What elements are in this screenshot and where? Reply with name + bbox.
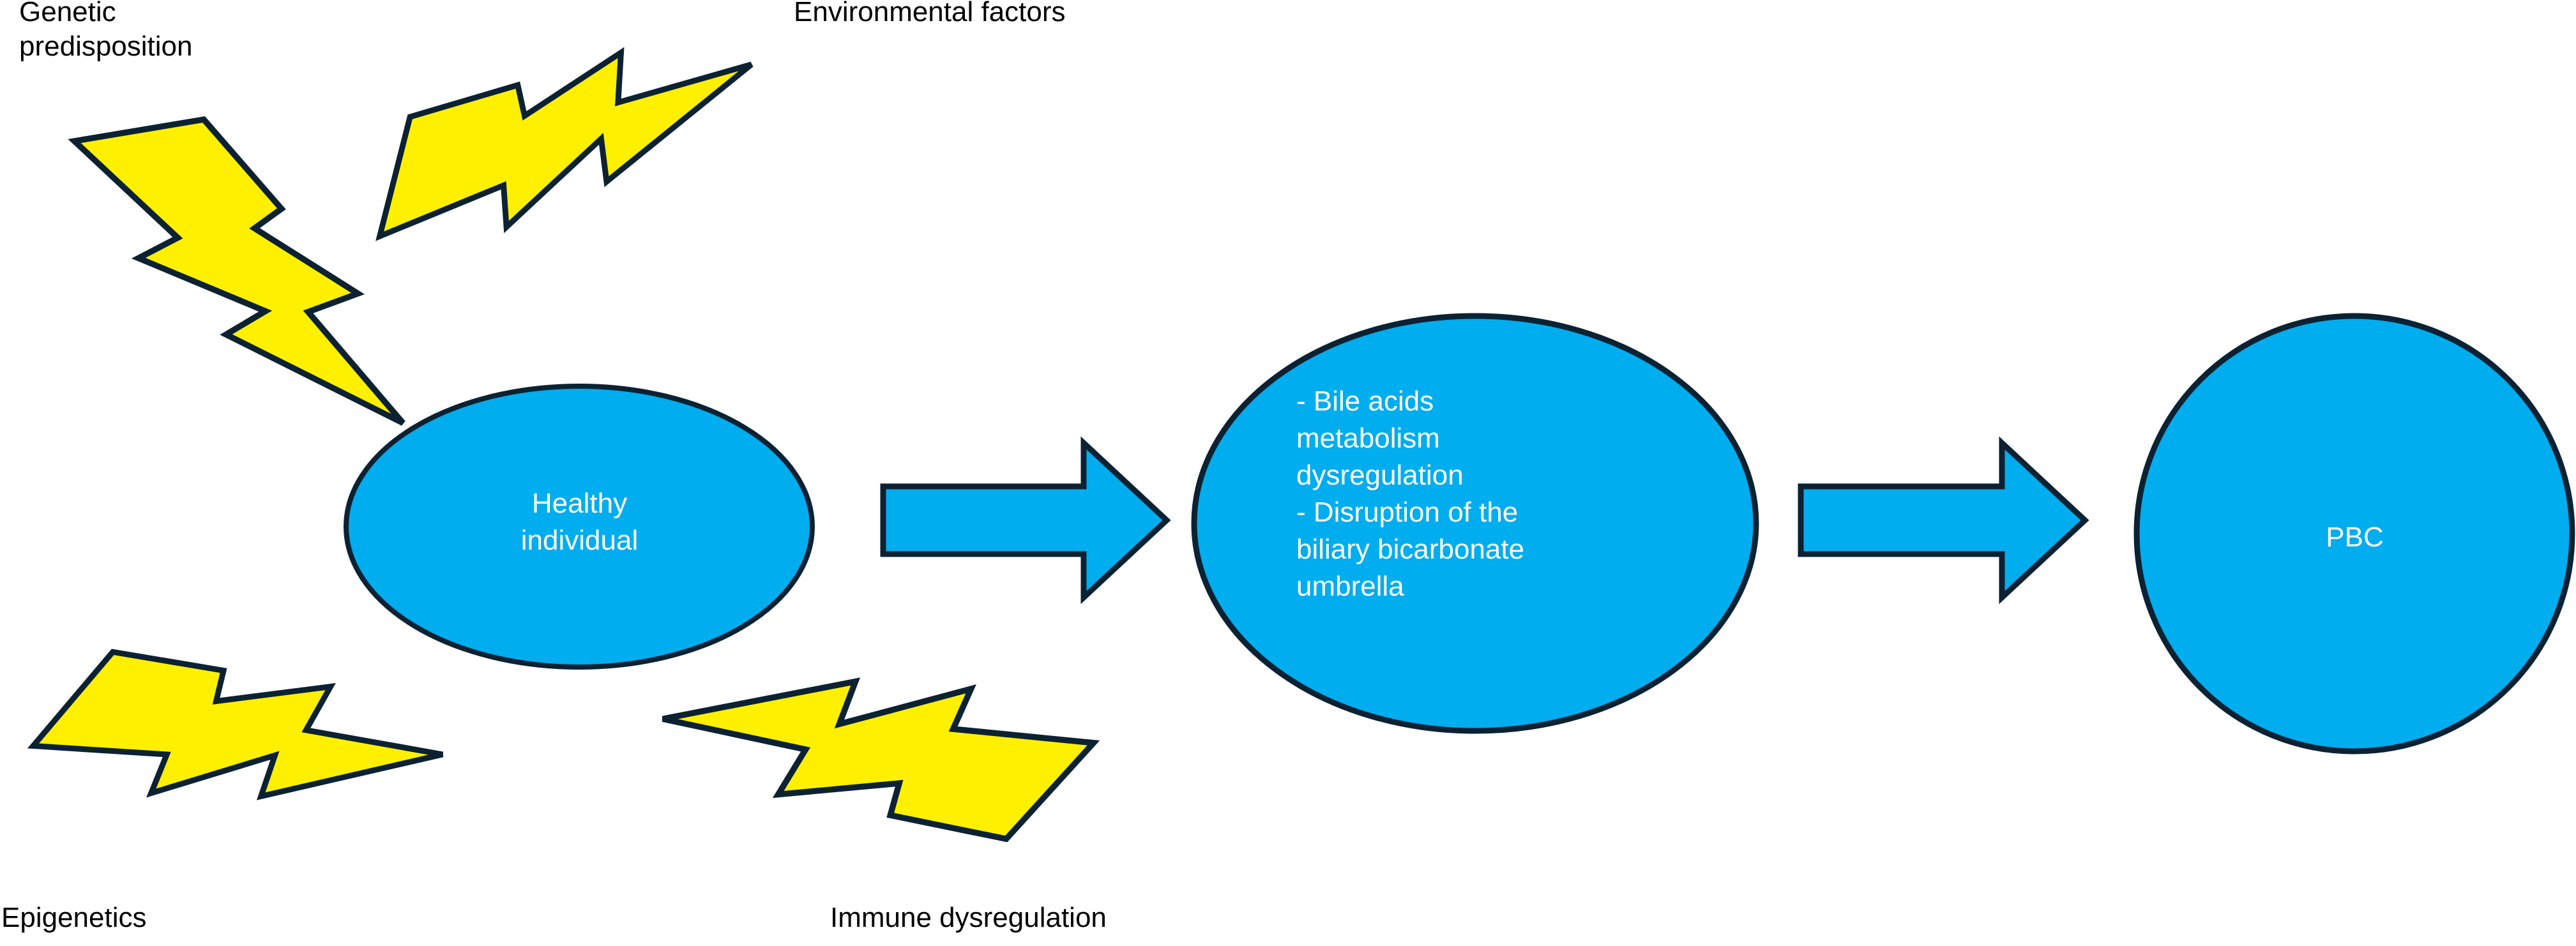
diagram-canvas: Healthy individual - Bile acids metaboli… (0, 0, 2576, 946)
factor-label-genetic-predisposition: Genetic predisposition (19, 0, 193, 63)
arrow-healthy-to-mechanisms (883, 443, 1167, 597)
node-mechanisms[interactable] (1194, 316, 1756, 731)
lightning-bolt-icon-environmental (356, 0, 752, 351)
arrow-mechanisms-to-pbc (1801, 443, 2085, 597)
pbc-pathogenesis-diagram (0, 0, 2576, 946)
lightning-bolt-icon-genetic (61, 113, 418, 423)
factor-label-epigenetics: Epigenetics (1, 901, 146, 935)
node-pbc[interactable] (2137, 316, 2572, 751)
node-healthy-individual[interactable] (346, 386, 812, 667)
factor-label-environmental-factors: Environmental factors (794, 0, 1066, 29)
factor-label-immune-dysregulation: Immune dysregulation (830, 901, 1107, 935)
